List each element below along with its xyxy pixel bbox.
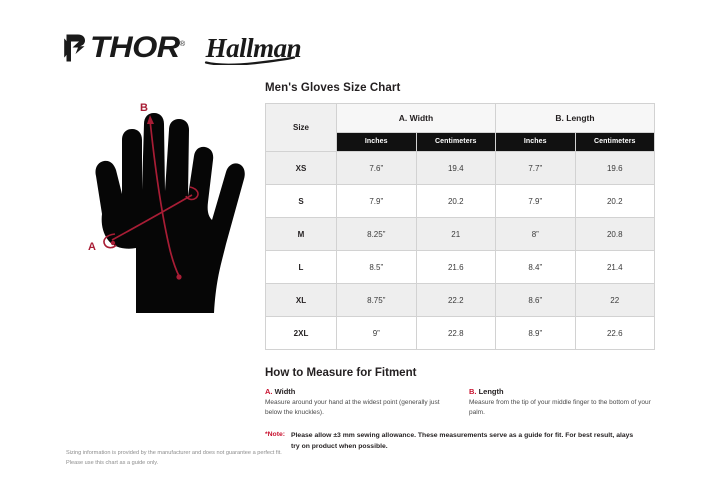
content-column: Men's Gloves Size Chart Size A. Width B.… (265, 82, 657, 452)
cell-length-inches: 8.4” (496, 251, 576, 284)
cell-length-inches: 8.6” (496, 284, 576, 317)
page-title: Men's Gloves Size Chart (265, 82, 657, 94)
cell-width-inches: 8.75” (337, 284, 417, 317)
width-end-point (111, 241, 115, 245)
column-header-size: Size (266, 104, 337, 152)
cell-length-centimeters: 22.6 (575, 317, 655, 350)
table-header: Size A. Width B. Length Inches Centimete… (266, 104, 655, 152)
table-header-row-groups: Size A. Width B. Length (266, 104, 655, 133)
table-row: L 8.5” 21.6 8.4” 21.4 (266, 251, 655, 284)
note-text: Please allow ±3 mm sewing allowance. The… (291, 431, 641, 452)
cell-size: XL (266, 284, 337, 317)
cell-width-centimeters: 20.2 (416, 185, 496, 218)
cell-width-centimeters: 22.2 (416, 284, 496, 317)
cell-size: L (266, 251, 337, 284)
footer-disclaimer: Sizing information is provided by the ma… (66, 449, 282, 469)
footer-line-2: Please use this chart as a guide only. (66, 459, 282, 469)
column-header-width-inches: Inches (337, 132, 417, 151)
cell-width-inches: 7.9” (337, 185, 417, 218)
cell-size: XS (266, 152, 337, 185)
thor-logo: THOR® (62, 33, 178, 63)
measure-item-width-text: Measure around your hand at the widest p… (265, 398, 451, 418)
table-row: XS 7.6” 19.4 7.7” 19.6 (266, 152, 655, 185)
length-end-point (176, 274, 181, 279)
measure-item-width-name: Width (275, 387, 296, 396)
column-header-length-inches: Inches (496, 132, 576, 151)
cell-width-inches: 7.6” (337, 152, 417, 185)
cell-length-centimeters: 22 (575, 284, 655, 317)
brand-header: THOR® Hallman (62, 33, 301, 63)
how-to-measure-section: How to Measure for Fitment A. Width Meas… (265, 367, 657, 452)
table-row: 2XL 9” 22.8 8.9” 22.6 (266, 317, 655, 350)
cell-length-centimeters: 19.6 (575, 152, 655, 185)
measure-item-length-text: Measure from the tip of your middle fing… (469, 398, 655, 418)
column-group-length: B. Length (496, 104, 655, 133)
width-label: A (88, 241, 96, 253)
cell-width-centimeters: 19.4 (416, 152, 496, 185)
table-row: M 8.25” 21 8” 20.8 (266, 218, 655, 251)
measure-item-width-heading: A. Width (265, 387, 451, 396)
measure-item-length-name: Length (479, 387, 504, 396)
measure-item-width: A. Width Measure around your hand at the… (265, 387, 451, 418)
column-header-width-centimeters: Centimeters (416, 132, 496, 151)
cell-length-inches: 7.9” (496, 185, 576, 218)
measure-item-width-mark: A. (265, 387, 273, 396)
script-swash-icon (204, 56, 296, 65)
cell-length-centimeters: 21.4 (575, 251, 655, 284)
thor-wordmark: THOR® (90, 33, 185, 63)
cell-size: M (266, 218, 337, 251)
cell-length-inches: 8” (496, 218, 576, 251)
cell-width-centimeters: 21.6 (416, 251, 496, 284)
table-row: S 7.9” 20.2 7.9” 20.2 (266, 185, 655, 218)
registered-trademark-icon: ® (180, 41, 185, 48)
cell-width-centimeters: 22.8 (416, 317, 496, 350)
size-chart-table: Size A. Width B. Length Inches Centimete… (265, 103, 655, 350)
cell-width-inches: 8.5” (337, 251, 417, 284)
column-group-width: A. Width (337, 104, 496, 133)
hand-silhouette-icon (95, 113, 244, 313)
cell-length-centimeters: 20.2 (575, 185, 655, 218)
cell-width-inches: 9” (337, 317, 417, 350)
table-body: XS 7.6” 19.4 7.7” 19.6 S 7.9” 20.2 7.9” … (266, 152, 655, 350)
table-row: XL 8.75” 22.2 8.6” 22 (266, 284, 655, 317)
measure-item-length-heading: B. Length (469, 387, 655, 396)
cell-length-inches: 7.7” (496, 152, 576, 185)
thor-helmet-bolt-icon (62, 33, 88, 63)
cell-length-centimeters: 20.8 (575, 218, 655, 251)
cell-size: 2XL (266, 317, 337, 350)
note-block: *Note: Please allow ±3 mm sewing allowan… (265, 431, 657, 452)
note-label: *Note: (265, 431, 285, 438)
how-to-measure-title: How to Measure for Fitment (265, 367, 657, 379)
hand-measurement-diagram: B A (74, 98, 254, 313)
cell-width-inches: 8.25” (337, 218, 417, 251)
cell-width-centimeters: 21 (416, 218, 496, 251)
hallman-logo: Hallman (206, 35, 302, 62)
column-header-length-centimeters: Centimeters (575, 132, 655, 151)
footer-line-1: Sizing information is provided by the ma… (66, 449, 282, 459)
length-label: B (140, 102, 148, 114)
measure-item-length: B. Length Measure from the tip of your m… (469, 387, 655, 418)
measure-item-length-mark: B. (469, 387, 477, 396)
cell-length-inches: 8.9” (496, 317, 576, 350)
cell-size: S (266, 185, 337, 218)
